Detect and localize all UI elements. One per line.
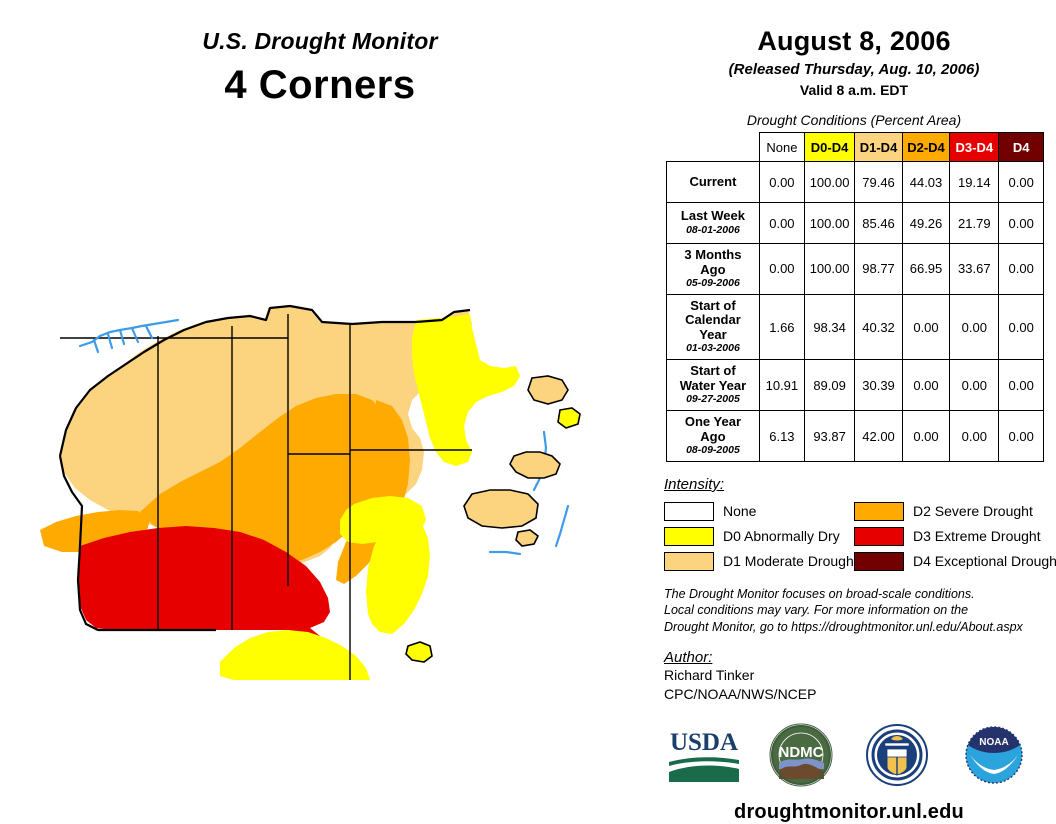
table-row: Start ofCalendar Year01-03-20061.6698.34… — [667, 294, 1044, 359]
row-label: Start ofCalendar Year01-03-2006 — [667, 294, 760, 359]
region-title: 4 Corners — [0, 63, 640, 108]
legend-column-right: D2 Severe DroughtD3 Extreme DroughtD4 Ex… — [854, 499, 1044, 574]
row-label-date: 01-03-2006 — [673, 343, 753, 355]
cell-d2-d4: 66.95 — [902, 244, 949, 295]
map-title-block: U.S. Drought Monitor 4 Corners — [0, 28, 640, 108]
legend-swatch-left-2 — [664, 552, 714, 571]
legend-swatch-left-0 — [664, 502, 714, 521]
cell-none: 0.00 — [759, 203, 804, 244]
row-label-title: Last Week — [673, 209, 753, 224]
table-body: Current0.00100.0079.4644.0319.140.00Last… — [667, 162, 1044, 462]
ndmc-logo: NDMC — [761, 719, 841, 791]
cell-d0-d4: 100.00 — [804, 162, 854, 203]
cell-none: 10.91 — [759, 360, 804, 411]
row-label: Start ofWater Year09-27-2005 — [667, 360, 760, 411]
legend-label: D0 Abnormally Dry — [723, 528, 840, 544]
cell-d3-d4: 19.14 — [950, 162, 999, 203]
col-header-d2: D2-D4 — [902, 133, 949, 162]
note-line-2: Local conditions may vary. For more info… — [664, 602, 1044, 619]
cell-none: 1.66 — [759, 294, 804, 359]
released-text: (Released Thursday, Aug. 10, 2006) — [664, 61, 1044, 78]
legend-label: D1 Moderate Drought — [723, 553, 858, 569]
cell-d2-d4: 0.00 — [902, 360, 949, 411]
svg-text:USDA: USDA — [670, 729, 738, 756]
intensity-legend: Intensity: NoneD0 Abnormally DryD1 Moder… — [664, 476, 1044, 574]
page-title: U.S. Drought Monitor — [0, 28, 640, 55]
website-url: droughtmonitor.unl.edu — [664, 801, 1034, 824]
table-row: Current0.00100.0079.4644.0319.140.00 — [667, 162, 1044, 203]
info-panel: August 8, 2006 (Released Thursday, Aug. … — [664, 26, 1044, 824]
row-label-title: One Year Ago — [673, 415, 753, 444]
row-label: One Year Ago08-09-2005 — [667, 411, 760, 462]
row-label: Current — [667, 162, 760, 203]
row-label: 3 Months Ago05-09-2006 — [667, 244, 760, 295]
cell-d1-d4: 98.77 — [855, 244, 902, 295]
legend-title: Intensity: — [664, 476, 1044, 493]
cell-d4: 0.00 — [999, 360, 1044, 411]
svg-text:NOAA: NOAA — [979, 737, 1008, 748]
usdc-seal-logo — [857, 719, 937, 791]
cell-d1-d4: 85.46 — [855, 203, 902, 244]
cell-d0-d4: 98.34 — [804, 294, 854, 359]
cell-d1-d4: 42.00 — [855, 411, 902, 462]
table-caption: Drought Conditions (Percent Area) — [664, 112, 1044, 128]
cell-d2-d4: 49.26 — [902, 203, 949, 244]
row-label-date: 08-01-2006 — [673, 225, 753, 237]
legend-label: D3 Extreme Drought — [913, 528, 1041, 544]
row-label-title: 3 Months Ago — [673, 248, 753, 277]
cell-d2-d4: 0.00 — [902, 294, 949, 359]
legend-label: D2 Severe Drought — [913, 503, 1033, 519]
legend-swatch-right-1 — [854, 527, 904, 546]
legend-column-left: NoneD0 Abnormally DryD1 Moderate Drought — [664, 499, 854, 574]
legend-item: D3 Extreme Drought — [854, 524, 1044, 549]
logo-row: USDA NDMC — [664, 719, 1034, 791]
drought-monitor-page: U.S. Drought Monitor 4 Corners — [0, 0, 1056, 816]
valid-text: Valid 8 a.m. EDT — [664, 82, 1044, 98]
col-header-none: None — [759, 133, 804, 162]
row-label-title: Start ofCalendar Year — [673, 299, 753, 343]
col-header-d4: D4 — [999, 133, 1044, 162]
cell-none: 6.13 — [759, 411, 804, 462]
author-name: Richard Tinker — [664, 666, 1044, 684]
row-label-title: Start ofWater Year — [673, 364, 753, 393]
legend-swatch-right-2 — [854, 552, 904, 571]
table-row: Last Week08-01-20060.00100.0085.4649.262… — [667, 203, 1044, 244]
legend-item: D4 Exceptional Drought — [854, 549, 1044, 574]
row-label: Last Week08-01-2006 — [667, 203, 760, 244]
legend-item: None — [664, 499, 854, 524]
legend-item: D2 Severe Drought — [854, 499, 1044, 524]
table-corner-cell — [667, 133, 760, 162]
legend-item: D1 Moderate Drought — [664, 549, 854, 574]
col-header-d1: D1-D4 — [855, 133, 902, 162]
cell-d3-d4: 0.00 — [950, 294, 999, 359]
author-title: Author: — [664, 649, 1044, 666]
cell-d1-d4: 79.46 — [855, 162, 902, 203]
legend-swatch-left-1 — [664, 527, 714, 546]
drought-conditions-table: None D0-D4 D1-D4 D2-D4 D3-D4 D4 Current0… — [666, 132, 1044, 462]
note-line-3: Drought Monitor, go to https://droughtmo… — [664, 619, 1044, 636]
date-block: August 8, 2006 (Released Thursday, Aug. … — [664, 26, 1044, 98]
cell-d4: 0.00 — [999, 203, 1044, 244]
row-label-title: Current — [673, 175, 753, 190]
legend-swatch-right-0 — [854, 502, 904, 521]
col-header-d3: D3-D4 — [950, 133, 999, 162]
legend-label: D4 Exceptional Drought — [913, 553, 1056, 569]
cell-d3-d4: 33.67 — [950, 244, 999, 295]
cell-d4: 0.00 — [999, 162, 1044, 203]
row-label-date: 08-09-2005 — [673, 445, 753, 457]
cell-d2-d4: 44.03 — [902, 162, 949, 203]
cell-d0-d4: 100.00 — [804, 244, 854, 295]
legend-item: D0 Abnormally Dry — [664, 524, 854, 549]
table-row: 3 Months Ago05-09-20060.00100.0098.7766.… — [667, 244, 1044, 295]
noaa-logo: NOAA — [954, 719, 1034, 791]
col-header-d0: D0-D4 — [804, 133, 854, 162]
table-header-row: None D0-D4 D1-D4 D2-D4 D3-D4 D4 — [667, 133, 1044, 162]
cell-d1-d4: 30.39 — [855, 360, 902, 411]
table-row: One Year Ago08-09-20056.1393.8742.000.00… — [667, 411, 1044, 462]
cell-d4: 0.00 — [999, 294, 1044, 359]
drought-map-svg — [20, 280, 660, 680]
cell-d3-d4: 0.00 — [950, 360, 999, 411]
legend-label: None — [723, 503, 756, 519]
row-label-date: 05-09-2006 — [673, 278, 753, 290]
disclaimer-notes: The Drought Monitor focuses on broad-sca… — [664, 586, 1044, 636]
drought-map — [20, 280, 660, 680]
cell-d3-d4: 21.79 — [950, 203, 999, 244]
cell-none: 0.00 — [759, 244, 804, 295]
author-affiliation: CPC/NOAA/NWS/NCEP — [664, 685, 1044, 703]
cell-d0-d4: 89.09 — [804, 360, 854, 411]
note-line-1: The Drought Monitor focuses on broad-sca… — [664, 586, 1044, 603]
usda-logo: USDA — [664, 719, 744, 791]
row-label-date: 09-27-2005 — [673, 394, 753, 406]
table-row: Start ofWater Year09-27-200510.9189.0930… — [667, 360, 1044, 411]
release-date: August 8, 2006 — [664, 26, 1044, 57]
cell-d4: 0.00 — [999, 244, 1044, 295]
cell-d0-d4: 100.00 — [804, 203, 854, 244]
cell-d4: 0.00 — [999, 411, 1044, 462]
cell-d3-d4: 0.00 — [950, 411, 999, 462]
cell-d0-d4: 93.87 — [804, 411, 854, 462]
cell-d1-d4: 40.32 — [855, 294, 902, 359]
svg-text:NDMC: NDMC — [778, 744, 823, 761]
cell-none: 0.00 — [759, 162, 804, 203]
cell-d2-d4: 0.00 — [902, 411, 949, 462]
